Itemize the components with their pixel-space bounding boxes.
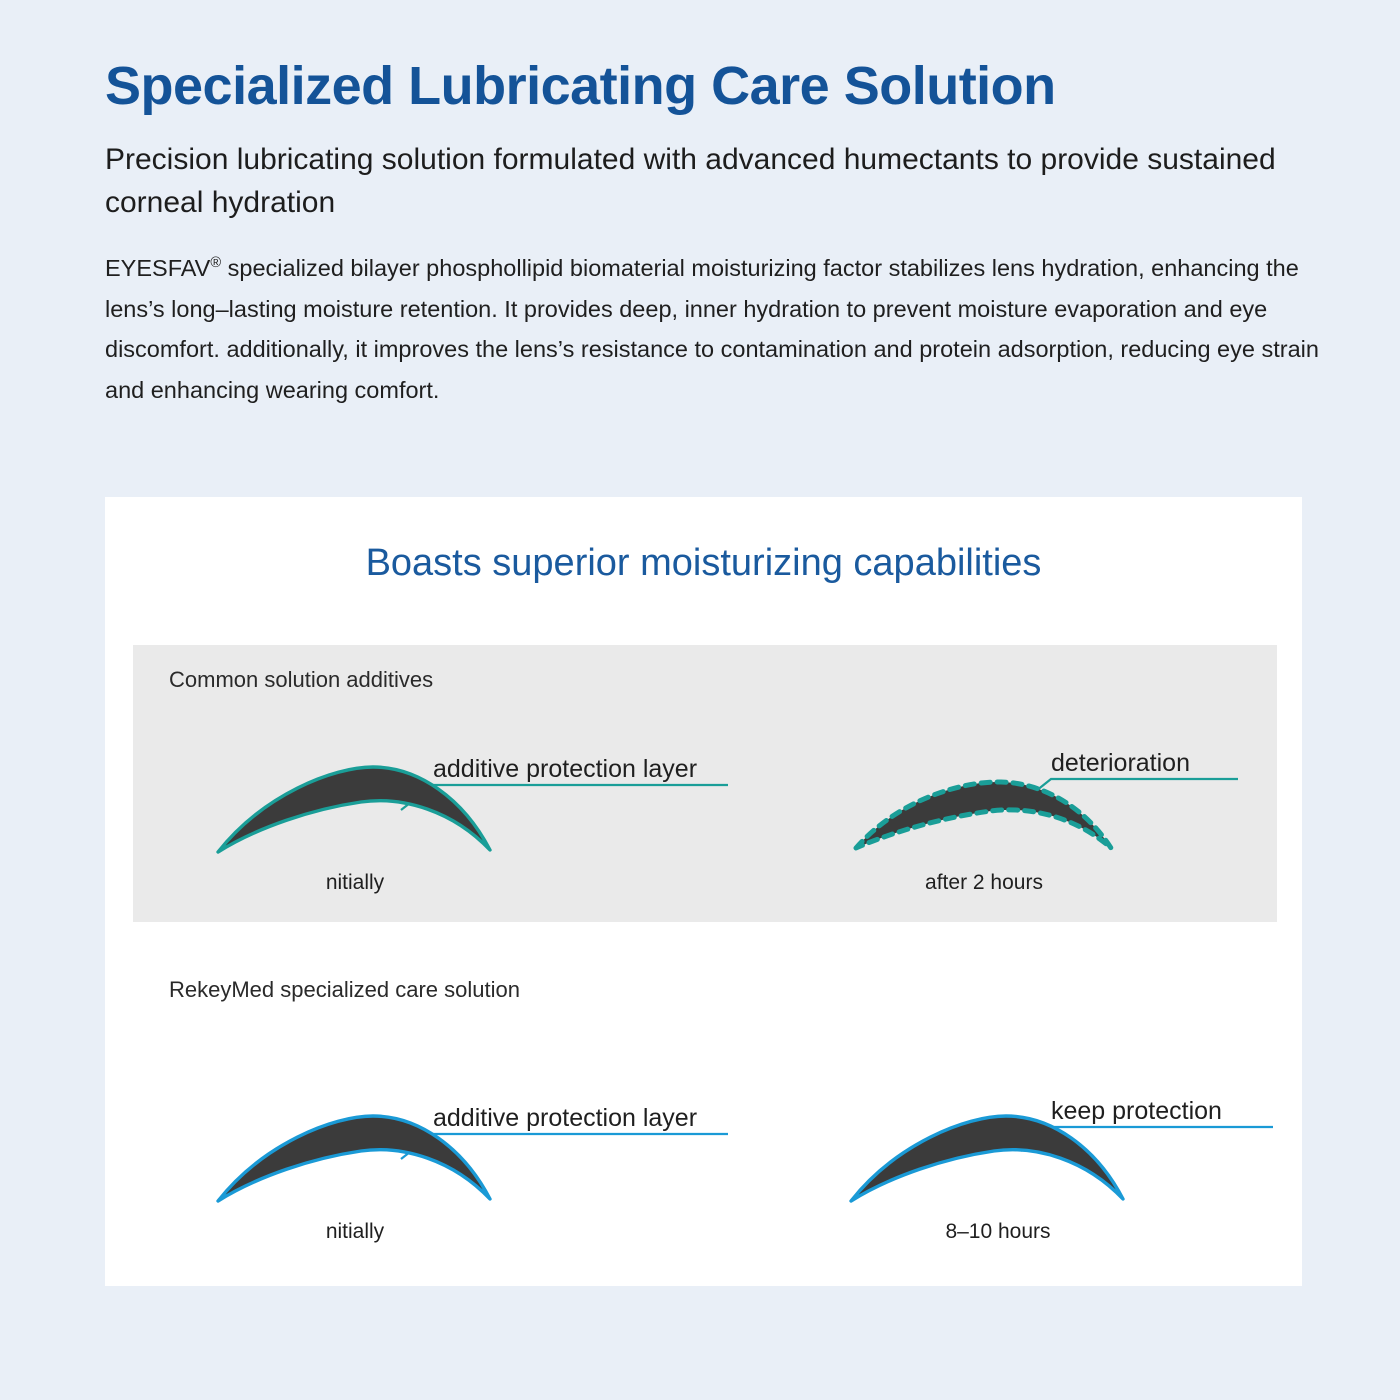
brand-name: EYESFAV	[105, 255, 210, 281]
callout-rekeymed-keep: keep protection	[1051, 1097, 1222, 1125]
leader-line-common-initial	[401, 785, 728, 810]
lens-shape-common-after-2h	[856, 782, 1111, 848]
leader-line-rekeymed-initial	[401, 1134, 728, 1159]
page-header: Specialized Lubricating Care Solution Pr…	[105, 55, 1335, 410]
leader-line-common-after	[1021, 779, 1238, 803]
panel-label-rekeymed: RekeyMed specialized care solution	[169, 977, 520, 1003]
callout-common-after: deterioration	[1051, 749, 1190, 777]
caption-rekeymed-8-10h: 8–10 hours	[945, 1220, 1050, 1243]
callout-rekeymed-initial: additive protection layer	[433, 1104, 697, 1132]
panel-common-solution-additives: Common solution additives additive prote…	[133, 645, 1277, 922]
page-subtitle: Precision lubricating solution formulate…	[105, 139, 1335, 224]
leader-line-rekeymed-keep	[1021, 1127, 1273, 1151]
registered-trademark-icon: ®	[210, 255, 221, 271]
panel-rekeymed-care-solution: RekeyMed specialized care solution addit…	[133, 955, 1277, 1255]
lens-shape-rekeymed-initial	[218, 1116, 490, 1201]
caption-common-initial: nitially	[326, 871, 385, 894]
feature-card: Boasts superior moisturizing capabilitie…	[105, 497, 1302, 1286]
caption-rekeymed-initial: nitially	[326, 1220, 385, 1243]
page-description: EYESFAV® specialized bilayer phosphollip…	[105, 248, 1325, 410]
caption-common-after-2h: after 2 hours	[925, 871, 1043, 894]
callout-common-initial: additive protection layer	[433, 755, 697, 783]
card-heading: Boasts superior moisturizing capabilitie…	[105, 497, 1302, 585]
lens-shape-common-initial	[218, 767, 490, 852]
description-text: specialized bilayer phosphollipid biomat…	[105, 255, 1319, 402]
panel-label-common: Common solution additives	[169, 667, 433, 693]
page-title: Specialized Lubricating Care Solution	[105, 55, 1335, 117]
lens-shape-rekeymed-8-10h	[851, 1116, 1123, 1201]
